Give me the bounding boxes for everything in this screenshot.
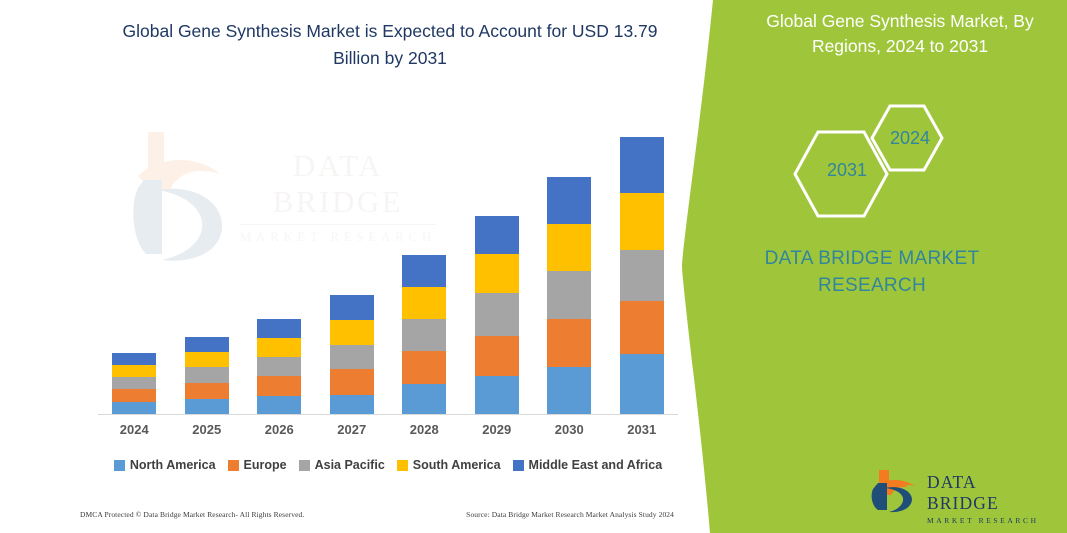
bar-segment (620, 193, 664, 250)
bar-column-2024 (112, 353, 156, 415)
bar-segment (330, 320, 374, 345)
bar-segment (547, 224, 591, 271)
legend-swatch (114, 460, 125, 471)
green-panel-content: Global Gene Synthesis Market, By Regions… (677, 0, 1067, 533)
bar-segment (112, 377, 156, 389)
legend-label: Asia Pacific (315, 458, 385, 472)
bar-segment (620, 354, 664, 415)
legend-item[interactable]: Asia Pacific (299, 458, 385, 472)
bar-segment (257, 338, 301, 357)
bar-segment (185, 399, 229, 415)
legend-item[interactable]: South America (397, 458, 501, 472)
bar-segment (475, 376, 519, 415)
legend-swatch (513, 460, 524, 471)
bar-segment (330, 395, 374, 415)
bar-segment (547, 367, 591, 415)
legend-swatch (299, 460, 310, 471)
data-bridge-logo: DATA BRIDGE MARKET RESEARCH (865, 466, 1040, 518)
panel-brand-line2: RESEARCH (717, 272, 1027, 299)
legend-label: South America (413, 458, 501, 472)
logo-name-line2: MARKET RESEARCH (927, 516, 1040, 525)
bar-column-2028 (402, 255, 446, 415)
x-axis-line (98, 414, 678, 415)
footer-source: Source: Data Bridge Market Research Mark… (466, 510, 674, 519)
bar-segment (475, 336, 519, 376)
hexagon-2031-label: 2031 (827, 160, 867, 181)
x-axis-label: 2026 (243, 422, 315, 437)
panel-brand: DATA BRIDGE MARKET RESEARCH (717, 245, 1027, 299)
bar-segment (402, 384, 446, 415)
bar-segment (402, 287, 446, 319)
x-axis-label: 2027 (316, 422, 388, 437)
bar-segment (402, 319, 446, 351)
bar-column-2026 (257, 319, 301, 415)
bar-column-2027 (330, 295, 374, 415)
x-axis-labels: 20242025202620272028202920302031 (98, 422, 678, 444)
bar-segment (547, 271, 591, 319)
legend-label: Europe (244, 458, 287, 472)
bar-segment (547, 319, 591, 367)
panel-brand-line1: DATA BRIDGE MARKET (717, 245, 1027, 272)
bar-column-2031 (620, 137, 664, 415)
footer-copyright: DMCA Protected © Data Bridge Market Rese… (80, 510, 304, 519)
bar-segment (112, 365, 156, 377)
legend-label: Middle East and Africa (529, 458, 663, 472)
bar-segment (402, 351, 446, 384)
bar-segment (620, 137, 664, 193)
logo-mark-icon (865, 466, 923, 516)
bar-segment (185, 367, 229, 383)
footer: DMCA Protected © Data Bridge Market Rese… (80, 506, 680, 522)
legend-item[interactable]: Europe (228, 458, 287, 472)
bar-segment (112, 389, 156, 402)
bar-segment (475, 293, 519, 336)
hexagon-group (782, 98, 982, 233)
panel-title: Global Gene Synthesis Market, By Regions… (745, 9, 1055, 59)
bar-segment (475, 216, 519, 254)
logo-text: DATA BRIDGE MARKET RESEARCH (927, 472, 1040, 525)
bar-segment (185, 383, 229, 399)
bar-segment (257, 357, 301, 376)
bar-segment (475, 254, 519, 293)
bar-segment (620, 250, 664, 301)
bar-column-2029 (475, 216, 519, 415)
bar-segment (620, 301, 664, 354)
bar-column-2025 (185, 337, 229, 415)
legend-label: North America (130, 458, 216, 472)
legend-swatch (397, 460, 408, 471)
bar-segment (257, 396, 301, 415)
bar-segment (330, 369, 374, 395)
bar-column-2030 (547, 177, 591, 415)
bar-segment (185, 337, 229, 352)
bar-segment (330, 295, 374, 320)
x-axis-label: 2024 (98, 422, 170, 437)
bar-segment (547, 177, 591, 224)
bar-segment (257, 376, 301, 396)
page-title: Global Gene Synthesis Market is Expected… (100, 18, 680, 72)
bar-segment (112, 353, 156, 365)
legend-item[interactable]: Middle East and Africa (513, 458, 663, 472)
x-axis-label: 2030 (533, 422, 605, 437)
bar-segment (402, 255, 446, 287)
hexagons-svg (782, 98, 982, 233)
legend-item[interactable]: North America (114, 458, 216, 472)
logo-name-line1: DATA BRIDGE (927, 472, 1040, 514)
x-axis-label: 2031 (606, 422, 678, 437)
x-axis-label: 2029 (461, 422, 533, 437)
hexagon-2024-label: 2024 (890, 128, 930, 149)
x-axis-label: 2025 (171, 422, 243, 437)
x-axis-label: 2028 (388, 422, 460, 437)
bar-segment (330, 345, 374, 369)
chart-legend: North AmericaEuropeAsia PacificSouth Ame… (98, 455, 678, 475)
stacked-bar-chart (98, 120, 678, 415)
bar-segment (257, 319, 301, 338)
legend-swatch (228, 460, 239, 471)
bar-segment (185, 352, 229, 367)
